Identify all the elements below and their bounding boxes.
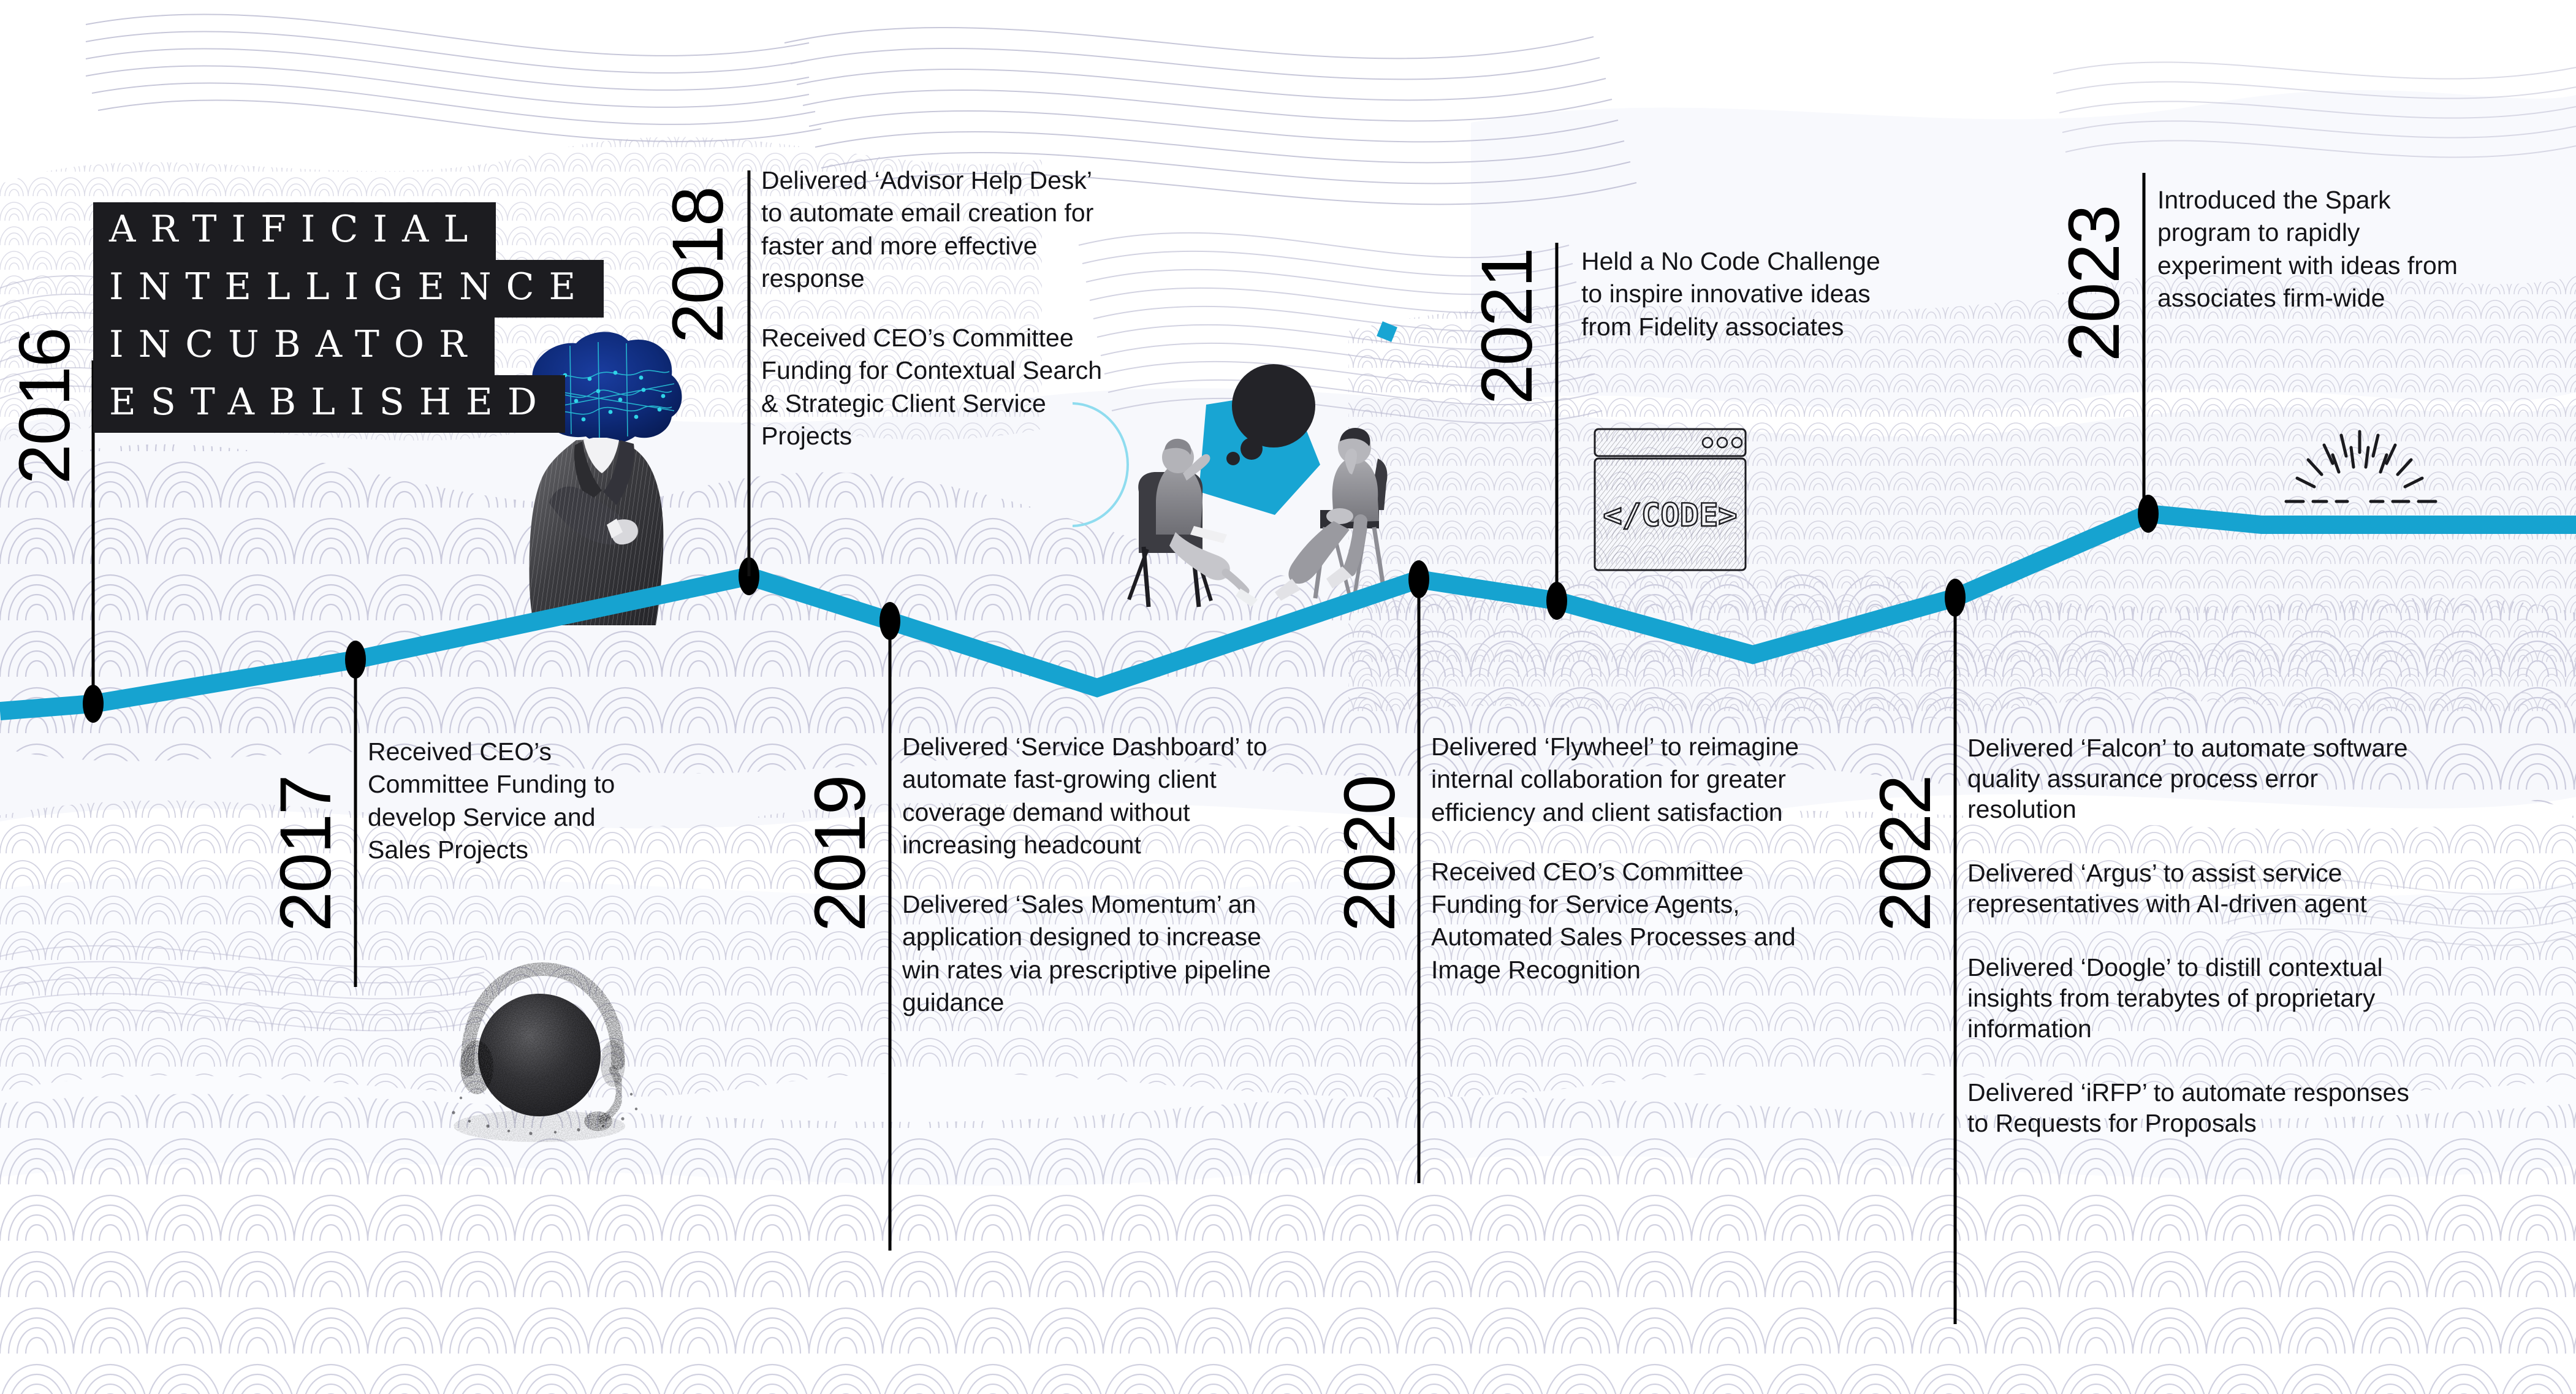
year-label-2016: 2016: [9, 328, 81, 484]
title-line-3: INCUBATOR: [93, 318, 495, 375]
entries-2017: Received CEO’s Committee Funding to deve…: [368, 736, 656, 866]
entry-item: Held a No Code Challenge to inspire inno…: [1581, 245, 1888, 343]
entries-2022: Delivered ‘Falcon’ to automate software …: [1967, 733, 2415, 1171]
entries-2020: Delivered ‘Flywheel’ to reimagine intern…: [1431, 731, 1811, 986]
title-line-4: ESTABLISHED: [93, 375, 565, 433]
node-2019: [880, 602, 900, 640]
node-2022: [1945, 579, 1966, 617]
timeline-blue-line: [0, 514, 2576, 711]
entry-item: Received CEO’s Committee Funding for Con…: [761, 322, 1111, 452]
entry-item: Delivered ‘Sales Momentum’ an applicatio…: [902, 888, 1294, 1019]
entry-item: Delivered ‘Argus’ to assist service repr…: [1967, 858, 2415, 919]
entry-item: Introduced the Spark program to rapidly …: [2157, 184, 2476, 314]
title-block: ARTIFICIAL INTELLIGENCE INCUBATOR ESTABL…: [93, 202, 604, 433]
timeline-infographic: </CODE>: [0, 0, 2576, 1394]
entries-2018: Delivered ‘Advisor Help Desk’ to automat…: [761, 164, 1111, 452]
entry-item: Delivered ‘Flywheel’ to reimagine intern…: [1431, 731, 1811, 829]
entry-item: Delivered ‘Doogle’ to distill contextual…: [1967, 952, 2415, 1044]
entry-item: Delivered ‘Advisor Help Desk’ to automat…: [761, 164, 1111, 295]
year-label-2022: 2022: [1869, 775, 1942, 932]
entry-item: Received CEO’s Committee Funding to deve…: [368, 736, 656, 866]
year-label-2019: 2019: [804, 775, 876, 932]
node-2016: [83, 685, 104, 723]
node-2021: [1546, 582, 1567, 620]
entries-2019: Delivered ‘Service Dashboard’ to automat…: [902, 731, 1294, 1019]
entry-item: Received CEO’s Committee Funding for Ser…: [1431, 856, 1811, 986]
year-label-2021: 2021: [1471, 248, 1543, 405]
entry-item: Delivered ‘Service Dashboard’ to automat…: [902, 731, 1294, 861]
node-2020: [1408, 560, 1429, 598]
year-label-2020: 2020: [1334, 775, 1406, 932]
node-2017: [345, 641, 366, 679]
year-label-2017: 2017: [270, 775, 342, 932]
entry-item: Delivered ‘iRFP’ to automate responses t…: [1967, 1077, 2415, 1138]
node-2023: [2138, 495, 2159, 533]
entries-2021: Held a No Code Challenge to inspire inno…: [1581, 245, 1888, 343]
year-label-2018: 2018: [662, 187, 734, 343]
title-line-2: INTELLIGENCE: [93, 260, 604, 318]
year-label-2023: 2023: [2058, 205, 2130, 362]
entry-item: Delivered ‘Falcon’ to automate software …: [1967, 733, 2415, 825]
entries-2023: Introduced the Spark program to rapidly …: [2157, 184, 2476, 314]
title-line-1: ARTIFICIAL: [93, 202, 496, 260]
